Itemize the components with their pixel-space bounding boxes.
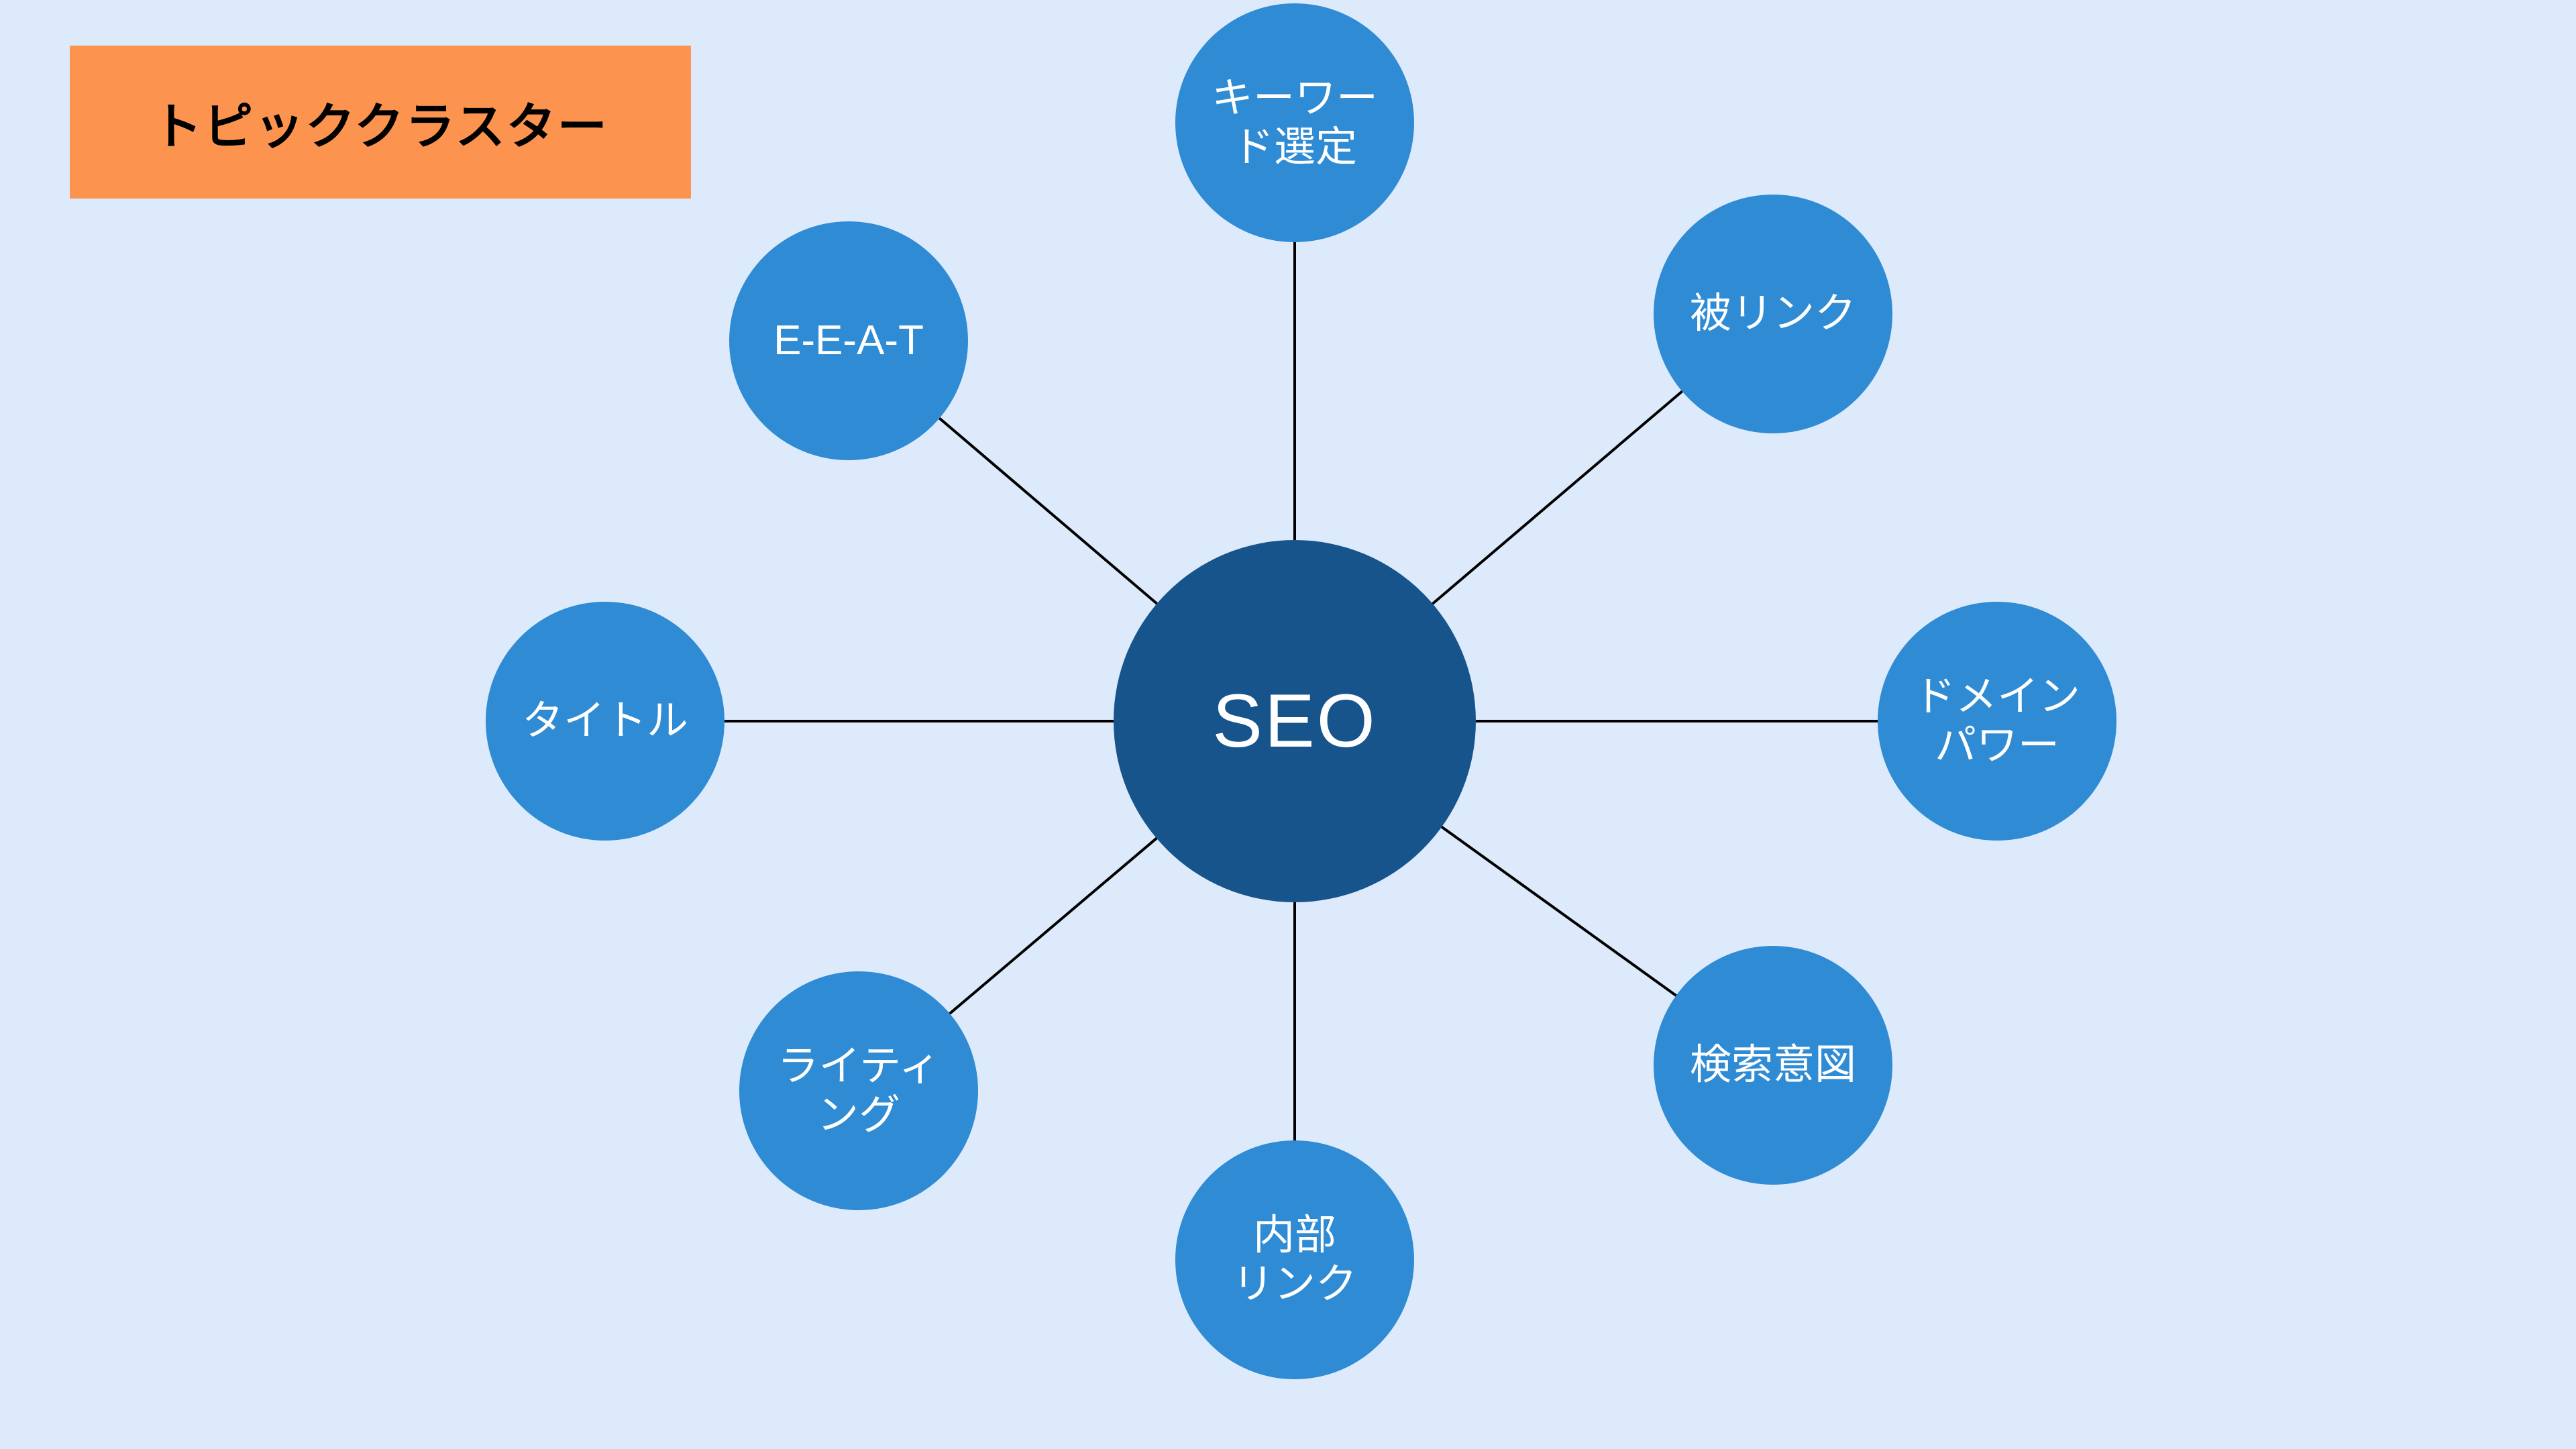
- connector-seo-to-writing: [949, 837, 1157, 1014]
- spoke-node-internal-link[interactable]: 内部 リンク: [1175, 1140, 1414, 1379]
- connector-seo-to-backlink: [1432, 390, 1683, 604]
- spoke-node-e-e-a-t[interactable]: E-E-A-T: [729, 221, 968, 460]
- node-label-title: タイトル: [522, 696, 688, 745]
- node-label-backlink: 被リンク: [1690, 289, 1856, 338]
- title-badge-label: トピッククラスター: [152, 87, 608, 158]
- spoke-node-search-intent[interactable]: 検索意図: [1654, 946, 1892, 1185]
- connector-seo-to-e-e-a-t: [938, 417, 1158, 604]
- node-label-seo: SEO: [1212, 677, 1377, 765]
- hub-node-seo[interactable]: SEO: [1114, 540, 1476, 902]
- node-label-e-e-a-t: E-E-A-T: [773, 316, 924, 365]
- spoke-node-title[interactable]: タイトル: [486, 602, 724, 841]
- spoke-node-keyword-selection[interactable]: キーワー ド選定: [1175, 3, 1414, 242]
- spoke-node-backlink[interactable]: 被リンク: [1654, 195, 1892, 433]
- node-label-writing: ライティ ング: [777, 1042, 940, 1140]
- node-label-keyword-selection: キーワー ド選定: [1212, 74, 1378, 172]
- spoke-node-domain-power[interactable]: ドメイン パワー: [1878, 602, 2116, 841]
- node-label-domain-power: ドメイン パワー: [1914, 672, 2080, 770]
- diagram-canvas: トピッククラスター キーワー ド選定被リンクドメイン パワー検索意図内部 リンク…: [0, 0, 2576, 1449]
- connector-seo-to-search-intent: [1441, 826, 1678, 997]
- title-badge: トピッククラスター: [70, 46, 691, 199]
- spoke-node-writing[interactable]: ライティ ング: [739, 971, 978, 1210]
- node-label-search-intent: 検索意図: [1690, 1040, 1856, 1089]
- node-label-internal-link: 内部 リンク: [1232, 1211, 1357, 1309]
